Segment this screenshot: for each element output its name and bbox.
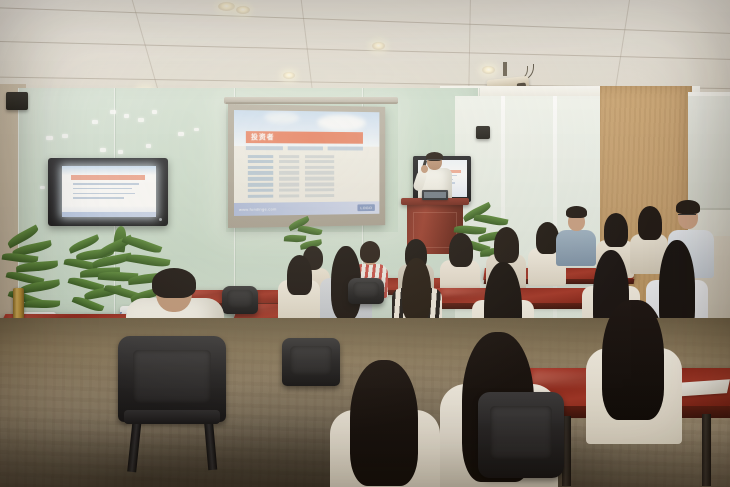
thermos-tumbler bbox=[13, 288, 24, 322]
slide-row bbox=[248, 160, 362, 163]
glasses-icon bbox=[427, 159, 442, 163]
presentation-slide: 投资者 www.fundinge.com LOGO bbox=[234, 110, 379, 216]
chair-back-row bbox=[222, 286, 258, 314]
attendee-foreground-far-right-front bbox=[586, 300, 682, 440]
chair-seat bbox=[124, 410, 220, 424]
conference-room-photo: 投资者 www.fundinge.com LOGO bbox=[0, 0, 730, 487]
downlight-icon bbox=[372, 42, 385, 50]
ceiling-speaker-icon bbox=[476, 126, 490, 139]
slide-row bbox=[248, 194, 362, 198]
chair-foreground-center bbox=[282, 338, 340, 386]
slide-title: 投资者 bbox=[246, 134, 274, 141]
window-blind bbox=[688, 96, 730, 210]
slide-row bbox=[248, 188, 362, 192]
tv-power-indicator-icon bbox=[159, 218, 162, 221]
chair-foreground-right bbox=[478, 392, 564, 478]
slide-title-bar: 投资者 bbox=[246, 131, 362, 143]
projection-screen: 投资者 www.fundinge.com LOGO bbox=[228, 104, 394, 228]
downlight-icon bbox=[283, 72, 295, 79]
slide-table-header bbox=[246, 146, 362, 151]
slide-row bbox=[248, 166, 362, 169]
slide-row bbox=[248, 177, 362, 181]
downlight-icon bbox=[218, 2, 235, 11]
attendee-foreground-center-front bbox=[330, 360, 440, 487]
laptop-icon bbox=[422, 190, 448, 200]
glasses-icon bbox=[678, 214, 696, 219]
ceiling-speaker-icon bbox=[6, 92, 28, 110]
tv-screen-content bbox=[62, 166, 156, 217]
downlight-icon bbox=[236, 6, 250, 14]
slide-row bbox=[248, 182, 362, 186]
slide-row bbox=[248, 171, 362, 175]
screen-roller bbox=[224, 97, 398, 104]
chair-back-row bbox=[348, 278, 384, 304]
slide-footer-url: www.fundinge.com bbox=[239, 207, 277, 212]
slide-footer: www.fundinge.com LOGO bbox=[234, 202, 379, 216]
attendee bbox=[278, 254, 320, 322]
slide-row bbox=[248, 155, 362, 159]
slide-footer-logo: LOGO bbox=[358, 204, 375, 211]
table-leg bbox=[702, 414, 711, 486]
wall-television-left bbox=[48, 158, 168, 226]
